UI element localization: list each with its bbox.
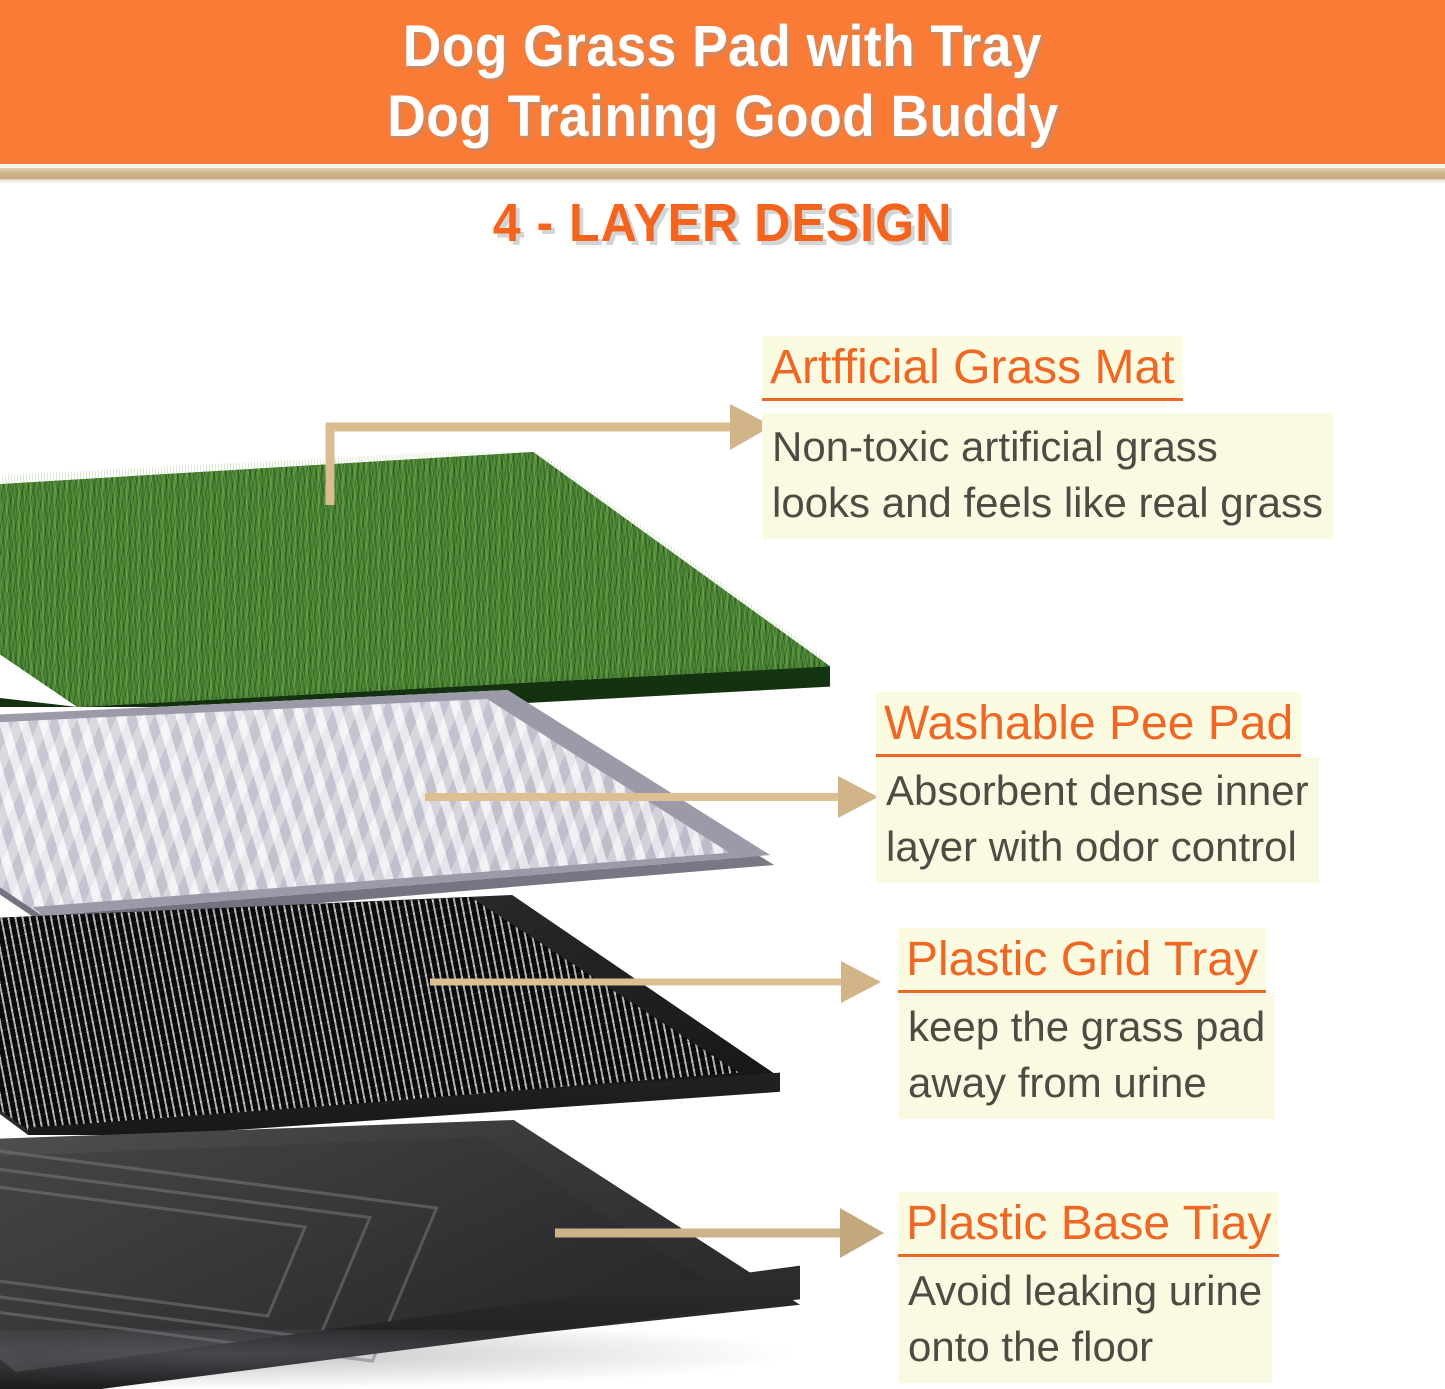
callout-title-plastic-base-tray: Plastic Base Tiay <box>898 1192 1279 1257</box>
callout-line: keep the grass pad <box>908 999 1265 1055</box>
callout-line: away from urine <box>908 1055 1265 1111</box>
layer-image-artificial-grass-mat <box>0 452 830 707</box>
callout-body-artificial-grass-mat: Non-toxic artificial grass looks and fee… <box>762 413 1333 539</box>
product-infographic: Dog Grass Pad with Tray Dog Training Goo… <box>0 0 1445 1389</box>
callout-line: Avoid leaking urine <box>908 1263 1262 1319</box>
callout-title-plastic-grid-tray: Plastic Grid Tray <box>898 928 1266 993</box>
callout-title-washable-pee-pad: Washable Pee Pad <box>876 692 1301 757</box>
callout-title-artificial-grass-mat: Artfficial Grass Mat <box>762 336 1183 401</box>
callout-body-plastic-base-tray: Avoid leaking urine onto the floor <box>898 1257 1272 1383</box>
callout-line: Absorbent dense inner <box>886 763 1309 819</box>
callout-line: Non-toxic artificial grass <box>772 419 1323 475</box>
callout-line: looks and feels like real grass <box>772 475 1323 531</box>
layer-image-plastic-grid-tray <box>0 895 780 1135</box>
callout-plastic-base-tray: Plastic Base Tiay Avoid leaking urine on… <box>898 1192 1445 1383</box>
callout-line: layer with odor control <box>886 819 1309 875</box>
callout-plastic-grid-tray: Plastic Grid Tray keep the grass pad awa… <box>898 928 1445 1119</box>
callout-washable-pee-pad: Washable Pee Pad Absorbent dense inner l… <box>876 692 1445 883</box>
layer-image-washable-pee-pad <box>0 690 770 916</box>
product-layer-stack <box>0 0 840 1389</box>
callout-line: onto the floor <box>908 1319 1262 1375</box>
callout-artificial-grass-mat: Artfficial Grass Mat Non-toxic artificia… <box>762 336 1445 539</box>
callout-body-plastic-grid-tray: keep the grass pad away from urine <box>898 993 1275 1119</box>
base-tray-ground-shadow <box>0 1330 800 1389</box>
callout-body-washable-pee-pad: Absorbent dense inner layer with odor co… <box>876 757 1319 883</box>
